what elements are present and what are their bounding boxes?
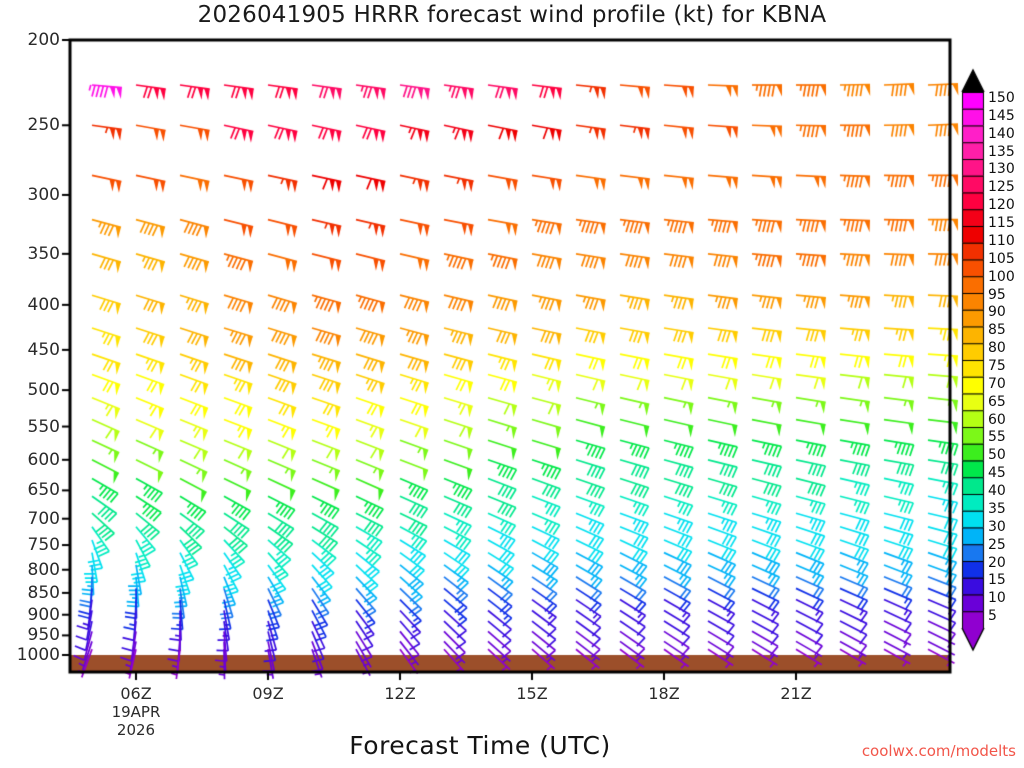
colorbar-tick-label: 90 xyxy=(988,304,1006,320)
y-axis-tick-label: 350 xyxy=(2,244,60,264)
colorbar-tick-label: 135 xyxy=(988,144,1015,160)
colorbar-tick-label: 5 xyxy=(988,608,997,624)
colorbar-tick-label: 150 xyxy=(988,90,1015,106)
colorbar-tick-label: 20 xyxy=(988,555,1006,571)
colorbar-tick-label: 30 xyxy=(988,519,1006,535)
colorbar-tick-label: 130 xyxy=(988,161,1015,177)
colorbar-tick-label: 100 xyxy=(988,269,1015,285)
colorbar-tick-label: 95 xyxy=(988,287,1006,303)
y-axis-tick-label: 250 xyxy=(2,115,60,135)
wind-profile-chart: 2026041905 HRRR forecast wind profile (k… xyxy=(0,0,1024,768)
colorbar-tick-label: 110 xyxy=(988,233,1015,249)
y-axis-tick-label: 800 xyxy=(2,560,60,580)
colorbar-tick-label: 55 xyxy=(988,429,1006,445)
colorbar-tick-label: 35 xyxy=(988,501,1006,517)
colorbar-tick-label: 125 xyxy=(988,179,1015,195)
y-axis-tick-label: 650 xyxy=(2,480,60,500)
colorbar-tick-label: 105 xyxy=(988,251,1015,267)
colorbar-tick-label: 115 xyxy=(988,215,1015,231)
y-axis-tick-label: 500 xyxy=(2,380,60,400)
colorbar-tick-label: 120 xyxy=(988,197,1015,213)
wind-barb-plot-canvas xyxy=(0,0,1024,768)
y-axis-tick-label: 700 xyxy=(2,509,60,529)
colorbar-tick-label: 45 xyxy=(988,465,1006,481)
x-axis-tick-label: 12Z xyxy=(350,684,450,703)
source-credit: coolwx.com/modelts xyxy=(862,742,1016,760)
y-axis-tick-label: 600 xyxy=(2,450,60,470)
y-axis-tick-label: 850 xyxy=(2,583,60,603)
y-axis-tick-label: 550 xyxy=(2,417,60,437)
y-axis-tick-label: 200 xyxy=(2,30,60,50)
x-axis-tick-label: 21Z xyxy=(746,684,846,703)
x-axis-tick-label: 15Z xyxy=(482,684,582,703)
x-axis-title: Forecast Time (UTC) xyxy=(0,731,960,760)
x-axis-date-sublabel: 19APR xyxy=(86,703,186,721)
colorbar-tick-label: 10 xyxy=(988,590,1006,606)
colorbar-tick-label: 85 xyxy=(988,322,1006,338)
colorbar-tick-label: 80 xyxy=(988,340,1006,356)
colorbar-tick-label: 60 xyxy=(988,412,1006,428)
y-axis-tick-label: 300 xyxy=(2,185,60,205)
y-axis-tick-label: 1000 xyxy=(2,645,60,665)
colorbar-tick-label: 15 xyxy=(988,572,1006,588)
colorbar-tick-label: 75 xyxy=(988,358,1006,374)
colorbar-tick-label: 40 xyxy=(988,483,1006,499)
y-axis-tick-label: 900 xyxy=(2,605,60,625)
colorbar-tick-label: 145 xyxy=(988,108,1015,124)
x-axis-tick-label: 09Z xyxy=(218,684,318,703)
y-axis-tick-label: 400 xyxy=(2,295,60,315)
x-axis-tick-label: 18Z xyxy=(614,684,714,703)
colorbar-tick-label: 65 xyxy=(988,394,1006,410)
y-axis-tick-label: 450 xyxy=(2,340,60,360)
colorbar-tick-label: 50 xyxy=(988,447,1006,463)
y-axis-tick-label: 950 xyxy=(2,625,60,645)
colorbar-tick-label: 70 xyxy=(988,376,1006,392)
y-axis-tick-label: 750 xyxy=(2,535,60,555)
colorbar-tick-label: 25 xyxy=(988,537,1006,553)
colorbar-tick-label: 140 xyxy=(988,126,1015,142)
